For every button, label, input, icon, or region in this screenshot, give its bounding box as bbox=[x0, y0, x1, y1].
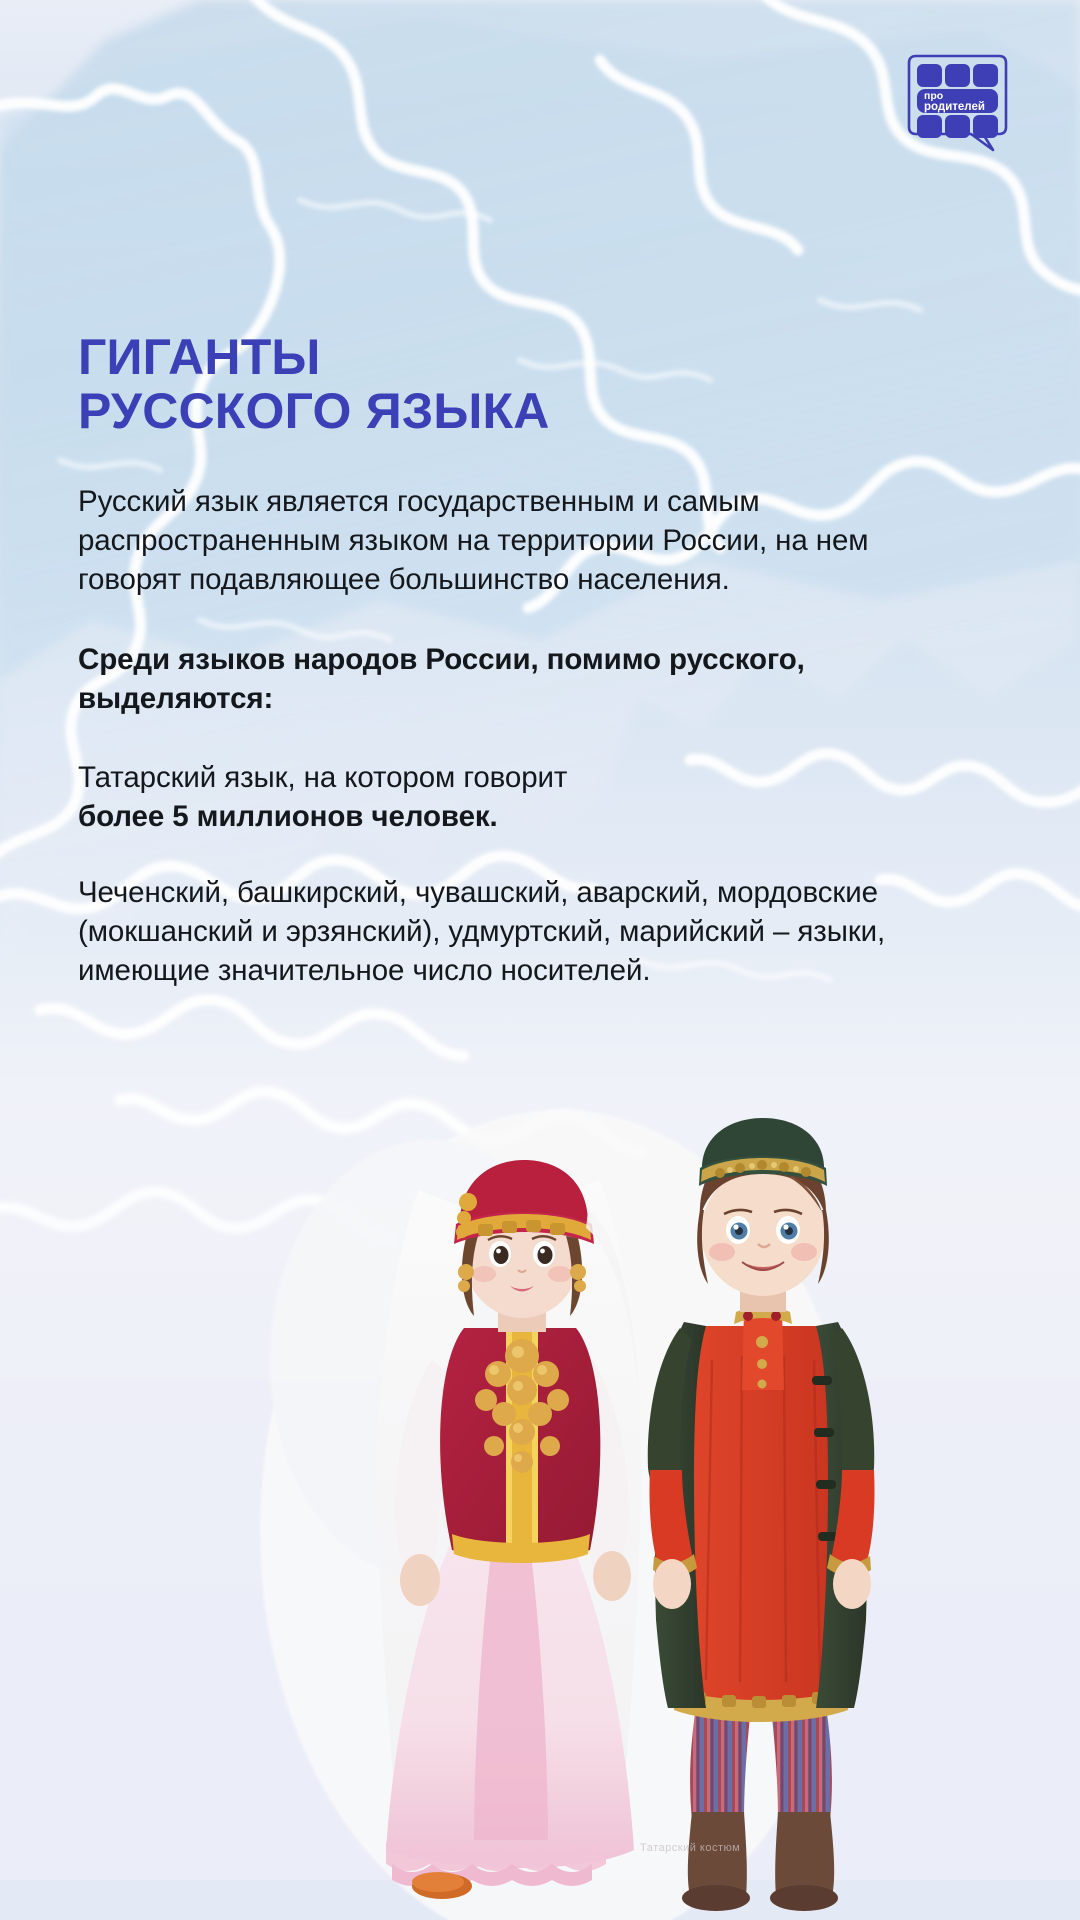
page-title: ГИГАНТЫ РУССКОГО ЯЗЫКА bbox=[78, 330, 838, 438]
pro-roditeley-logo[interactable]: про родителей bbox=[905, 53, 1010, 153]
logo-line-2: родителей bbox=[924, 101, 985, 113]
tatar-count: более 5 миллионов человек. bbox=[78, 797, 953, 836]
paragraph-intro: Русский язык является государственным и … bbox=[78, 482, 953, 600]
title-line-1: ГИГАНТЫ bbox=[78, 329, 321, 385]
paragraph-tatar: Татарский язык, на котором говорит более… bbox=[78, 758, 953, 836]
tatar-girl bbox=[377, 1160, 641, 1899]
tatar-lead: Татарский язык, на котором говорит bbox=[78, 761, 567, 794]
paragraph-other-languages: Чеченский, башкирский, чувашский, аварск… bbox=[78, 873, 953, 991]
paragraph-languages-heading: Среди языков народов России, помимо русс… bbox=[78, 640, 958, 718]
poster-canvas: про родителей ГИГАНТЫ РУССКОГО ЯЗЫКА Рус… bbox=[0, 0, 1080, 1920]
title-line-2: РУССКОГО ЯЗЫКА bbox=[78, 384, 838, 438]
tatar-children-illustration bbox=[0, 1060, 1080, 1920]
illustration-caption: Татарский костюм bbox=[640, 1842, 740, 1854]
article-content: ГИГАНТЫ РУССКОГО ЯЗЫКА Русский язык явля… bbox=[78, 330, 1008, 1030]
